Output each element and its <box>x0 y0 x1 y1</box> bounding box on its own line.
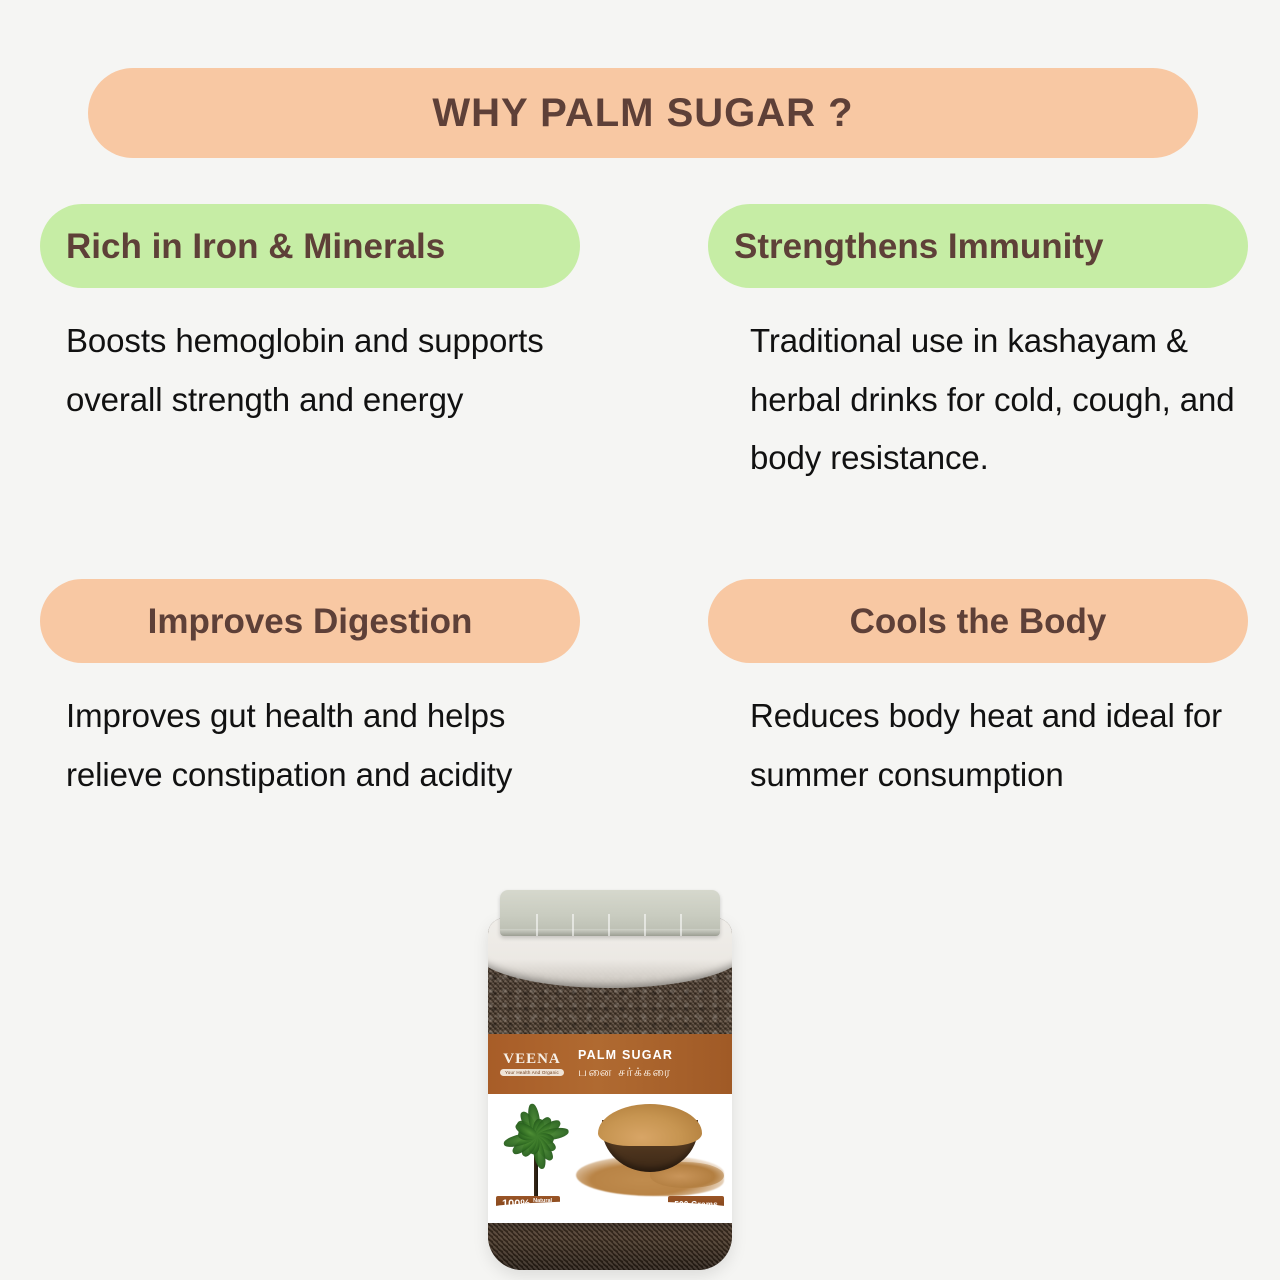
benefit-card-iron-minerals: Rich in Iron & Minerals Boosts hemoglobi… <box>40 204 580 429</box>
cap-ridge <box>536 914 538 936</box>
benefit-body-immunity: Traditional use in kashayam & herbal dri… <box>708 312 1248 488</box>
cap-lip <box>500 929 720 936</box>
jar-cap <box>500 890 720 936</box>
benefit-card-cooling: Cools the Body Reduces body heat and ide… <box>708 579 1248 804</box>
sugar-bowl-photo <box>576 1104 724 1208</box>
benefit-badge-label: Cools the Body <box>850 604 1107 639</box>
benefit-badge-label: Rich in Iron & Minerals <box>66 229 445 264</box>
cap-ridge <box>608 914 610 936</box>
label-header-band: VEENA Your Health And Organic PALM SUGAR… <box>488 1034 732 1094</box>
product-name-tamil: பனை சர்க்கரை <box>578 1063 732 1081</box>
product-jar: VEENA Your Health And Organic PALM SUGAR… <box>488 918 732 1270</box>
cap-ridge <box>644 914 646 936</box>
palm-crown <box>506 1100 566 1162</box>
product-label: VEENA Your Health And Organic PALM SUGAR… <box>488 1034 732 1214</box>
benefit-badge-digestion: Improves Digestion <box>40 579 580 663</box>
benefit-badge-cooling: Cools the Body <box>708 579 1248 663</box>
benefit-badge-iron-minerals: Rich in Iron & Minerals <box>40 204 580 288</box>
benefit-card-digestion: Improves Digestion Improves gut health a… <box>40 579 580 804</box>
page-title-banner: WHY PALM SUGAR ? <box>88 68 1198 158</box>
brand-block: VEENA Your Health And Organic <box>488 1052 576 1076</box>
page-title: WHY PALM SUGAR ? <box>432 91 853 136</box>
product-image: VEENA Your Health And Organic PALM SUGAR… <box>470 890 750 1280</box>
benefit-card-immunity: Strengthens Immunity Traditional use in … <box>708 204 1248 488</box>
benefit-badge-label: Strengthens Immunity <box>734 229 1103 264</box>
label-artwork: 100% Natural Organic 500 Grams <box>488 1094 732 1214</box>
cap-ridge <box>680 914 682 936</box>
label-title-block: PALM SUGAR பனை சர்க்கரை <box>576 1047 732 1081</box>
infographic-page: WHY PALM SUGAR ? Rich in Iron & Minerals… <box>0 0 1280 1280</box>
palm-tree-icon <box>502 1100 570 1204</box>
benefit-badge-immunity: Strengthens Immunity <box>708 204 1248 288</box>
benefit-body-digestion: Improves gut health and helps relieve co… <box>40 687 580 804</box>
brand-tagline: Your Health And Organic <box>500 1069 564 1076</box>
benefit-badge-label: Improves Digestion <box>148 604 473 639</box>
benefit-body-iron-minerals: Boosts hemoglobin and supports overall s… <box>40 312 580 429</box>
benefit-body-cooling: Reduces body heat and ideal for summer c… <box>708 687 1248 804</box>
product-name: PALM SUGAR <box>578 1047 732 1063</box>
cap-ridge <box>572 914 574 936</box>
palm-sugar-powder <box>598 1104 702 1146</box>
brand-name: VEENA <box>503 1052 561 1067</box>
jar-base-granules <box>488 1210 732 1270</box>
jar-base-mask <box>488 1201 732 1223</box>
